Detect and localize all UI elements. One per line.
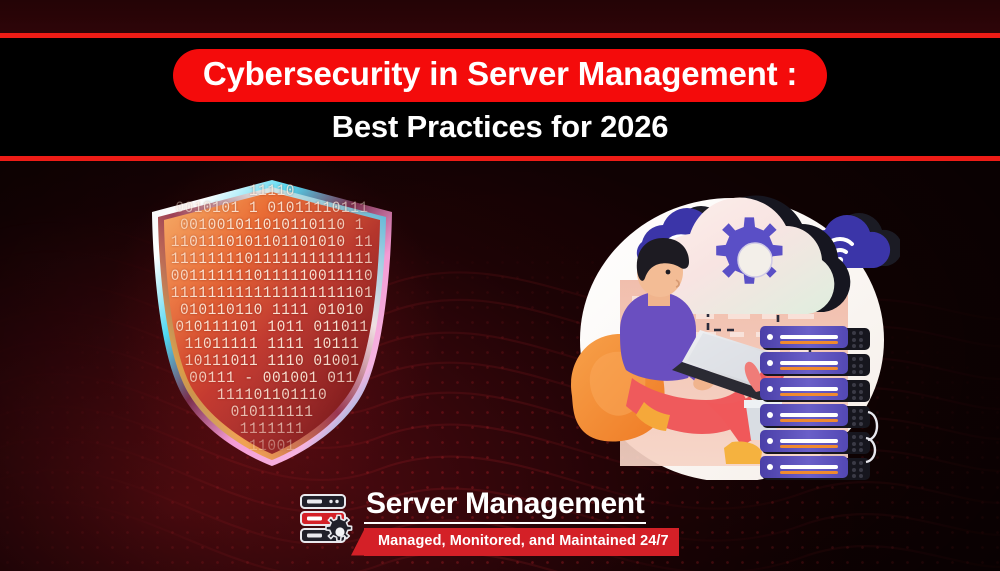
binary-row: 010110110 1111 01010 bbox=[154, 303, 390, 321]
person-eye bbox=[666, 270, 671, 275]
server-unit bbox=[760, 326, 870, 350]
page-title: Cybersecurity in Server Management : Bes… bbox=[0, 38, 1000, 156]
cloud-server-management-illustration bbox=[560, 180, 900, 480]
header-top-strip bbox=[0, 0, 1000, 33]
binary-row: 1111111 bbox=[154, 422, 390, 440]
brand-logo: Server Management Managed, Monitored, an… bbox=[298, 487, 688, 559]
illustration-svg bbox=[560, 180, 900, 480]
binary-row: 11001 bbox=[154, 439, 390, 457]
binary-row: 010111111 bbox=[154, 405, 390, 423]
binary-row: 111101101110 bbox=[154, 388, 390, 406]
binary-row: 10111011 1110 01001 bbox=[154, 354, 390, 372]
title-line-1: Cybersecurity in Server Management : bbox=[173, 49, 827, 102]
shield-binary-text: 11110 0010101 1 01011110111 001001011010… bbox=[154, 184, 390, 458]
server-unit bbox=[760, 378, 870, 402]
gear-icon bbox=[716, 217, 782, 283]
server-unit bbox=[760, 430, 870, 454]
server-unit bbox=[760, 352, 870, 376]
binary-row: 001001011010110110 1 bbox=[154, 218, 390, 236]
binary-row: 1101110101101101010 11 bbox=[154, 235, 390, 253]
gear-icon bbox=[326, 515, 352, 541]
binary-row: 1111111101111111111111 bbox=[154, 252, 390, 270]
server-unit bbox=[760, 456, 870, 480]
binary-row: 0010101 1 01011110111 bbox=[154, 201, 390, 219]
binary-row: 1111111111111111111101 bbox=[154, 286, 390, 304]
binary-row: 11011111 1111 10111 bbox=[154, 337, 390, 355]
banner-root: Cybersecurity in Server Management : Bes… bbox=[0, 0, 1000, 571]
logo-tagline: Managed, Monitored, and Maintained 24/7 bbox=[364, 528, 679, 556]
binary-row: 010111101 1011 011011 bbox=[154, 320, 390, 338]
title-line-2: Best Practices for 2026 bbox=[332, 110, 669, 145]
binary-row: 00111 - 001001 011 bbox=[154, 371, 390, 389]
server-stack-gear-icon bbox=[298, 489, 360, 551]
binary-shield-icon: 11110 0010101 1 01011110111 001001011010… bbox=[148, 176, 396, 466]
binary-row: 11110 bbox=[154, 184, 390, 201]
logo-brand-name: Server Management bbox=[364, 487, 646, 524]
server-unit bbox=[760, 404, 870, 428]
logo-text-column: Server Management Managed, Monitored, an… bbox=[364, 487, 679, 556]
binary-row: 0011111110111110011110 bbox=[154, 269, 390, 287]
